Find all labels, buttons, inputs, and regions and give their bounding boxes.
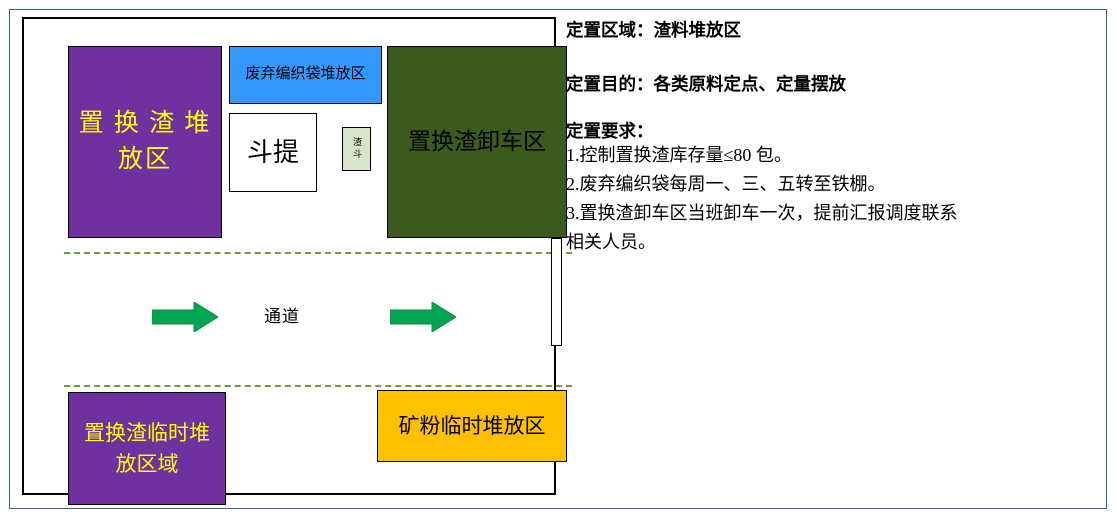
requirement-item-3: 3.置换渣卸车区当班卸车一次，提前汇报调度联系 [566,199,1086,228]
requirement-item-3-continued: 相关人员。 [566,228,1086,257]
panel-spacer-2 [566,93,1086,123]
zone-bucket-elevator[interactable]: 斗提 [229,113,317,192]
zone-slag-unloading[interactable]: 置换渣卸车区 [387,46,567,238]
requirement-item-2: 2.废弃编织袋每周一、三、五转至铁棚。 [566,170,1086,199]
door-opening-marker [551,238,562,346]
zone-slag-storage[interactable]: 置 换 渣 堆 放区 [68,46,222,238]
divider-dashed-bottom [64,385,572,387]
zone-temporary-ore-powder-storage[interactable]: 矿粉临时堆放区 [377,390,567,462]
zone-waste-bag-storage[interactable]: 废弃编织袋堆放区 [229,46,382,104]
panel-purpose-line: 定置目的：各类原料定点、定量摆放 [566,76,1086,94]
arrow-right-icon-right [390,302,456,332]
zone-slag-hopper[interactable]: 渣斗 [342,127,371,171]
divider-dashed-top [64,252,572,254]
info-panel: 定置区域：渣料堆放区 定置目的：各类原料定点、定量摆放 定置要求： 1.控制置换… [566,22,1086,257]
requirement-item-1: 1.控制置换渣库存量≤80 包。 [566,141,1086,170]
panel-area-line: 定置区域：渣料堆放区 [566,22,1086,40]
zone-layout-diagram: 置 换 渣 堆 放区 废弃编织袋堆放区 斗提 渣斗 置换渣卸车区 通道 置换渣临… [22,17,556,495]
zone-temporary-slag-storage[interactable]: 置换渣临时堆放区域 [68,392,226,505]
page-root: 置 换 渣 堆 放区 废弃编织袋堆放区 斗提 渣斗 置换渣卸车区 通道 置换渣临… [0,0,1117,518]
panel-requirements-heading: 定置要求： [566,123,1086,141]
panel-spacer-1 [566,40,1086,76]
corridor-label: 通道 [264,302,300,327]
arrow-right-icon-left [152,302,218,332]
